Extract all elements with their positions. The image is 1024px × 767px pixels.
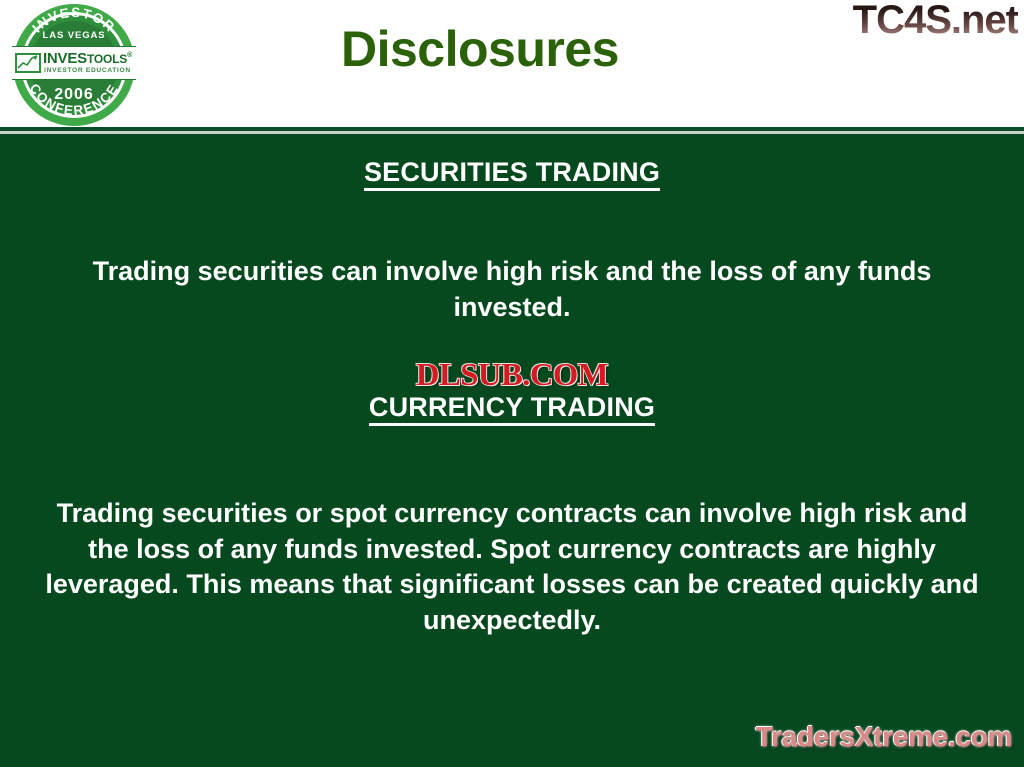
logo-wordmark: INVESTOOLS® INVESTOR EDUCATION	[41, 51, 136, 75]
investools-conference-logo: INVESTOR CONFERENCE LAS VEGAS INVESTOOLS…	[13, 4, 135, 126]
watermark-tc4s: TC4S.net	[853, 0, 1018, 43]
watermark-dlsub: DLSUB.COM	[0, 356, 1024, 393]
section-heading-securities-trading: SECURITIES TRADING	[0, 157, 1024, 188]
logo-city-label: LAS VEGAS	[13, 30, 135, 41]
chart-icon	[15, 53, 41, 73]
page-title: Disclosures	[160, 22, 800, 77]
logo-wordmark-plate: INVESTOOLS® INVESTOR EDUCATION	[12, 46, 136, 80]
section-heading-securities-label: SECURITIES TRADING	[364, 157, 660, 191]
logo-year-label: 2006	[13, 86, 135, 104]
slide-body: SECURITIES TRADING Trading securities ca…	[0, 134, 1024, 767]
section-heading-currency-trading: CURRENCY TRADING	[0, 392, 1024, 423]
section-body-securities-trading: Trading securities can involve high risk…	[44, 254, 980, 325]
section-body-currency-trading: Trading securities or spot currency cont…	[34, 496, 990, 639]
watermark-tradersxtreme: TradersXtreme.com	[756, 721, 1012, 753]
logo-brand-tagline: INVESTOR EDUCATION	[41, 68, 134, 75]
section-heading-currency-label: CURRENCY TRADING	[369, 392, 655, 426]
slide-disclosures: INVESTOR CONFERENCE LAS VEGAS INVESTOOLS…	[0, 0, 1024, 767]
logo-brand-name: INVESTOOLS®	[41, 51, 134, 66]
